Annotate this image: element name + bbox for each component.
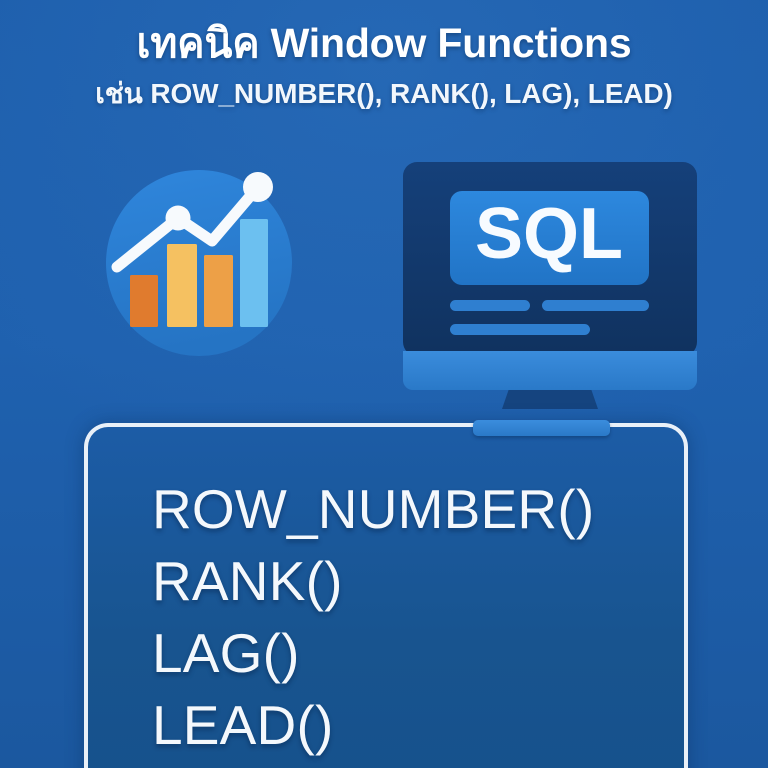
- chart-bar-3: [204, 255, 233, 327]
- functions-list: ROW_NUMBER() RANK() LAG() LEAD(): [88, 427, 684, 761]
- chart-bar-1: [130, 275, 158, 327]
- list-item: ROW_NUMBER(): [152, 473, 684, 545]
- list-item: RANK(): [152, 545, 684, 617]
- page-subtitle: เช่น ROW_NUMBER(), RANK(), LAG), LEAD): [0, 76, 768, 112]
- chart-trend-dot-2: [243, 172, 273, 202]
- monitor-code-line-1b: [542, 300, 649, 311]
- functions-code-panel: ROW_NUMBER() RANK() LAG() LEAD(): [84, 423, 688, 768]
- list-item: LEAD(): [152, 689, 684, 761]
- title-block: เทคนิค Window Functions เช่น ROW_NUMBER(…: [0, 16, 768, 112]
- sql-badge-label: SQL: [475, 194, 623, 274]
- page-title: เทคนิค Window Functions: [0, 16, 768, 70]
- monitor-code-line-2: [450, 324, 590, 335]
- chart-bar-4: [240, 219, 268, 327]
- chart-bar-2: [167, 244, 197, 327]
- sql-monitor-illustration: SQL: [402, 161, 698, 433]
- list-item: LAG(): [152, 617, 684, 689]
- chart-trend-dot-1: [166, 206, 191, 231]
- monitor-body-strip: [403, 351, 697, 390]
- poster-canvas: เทคนิค Window Functions เช่น ROW_NUMBER(…: [0, 0, 768, 768]
- monitor-code-line-1a: [450, 300, 530, 311]
- bar-chart-growth-icon: [99, 163, 299, 363]
- monitor-base-bar: [473, 420, 610, 436]
